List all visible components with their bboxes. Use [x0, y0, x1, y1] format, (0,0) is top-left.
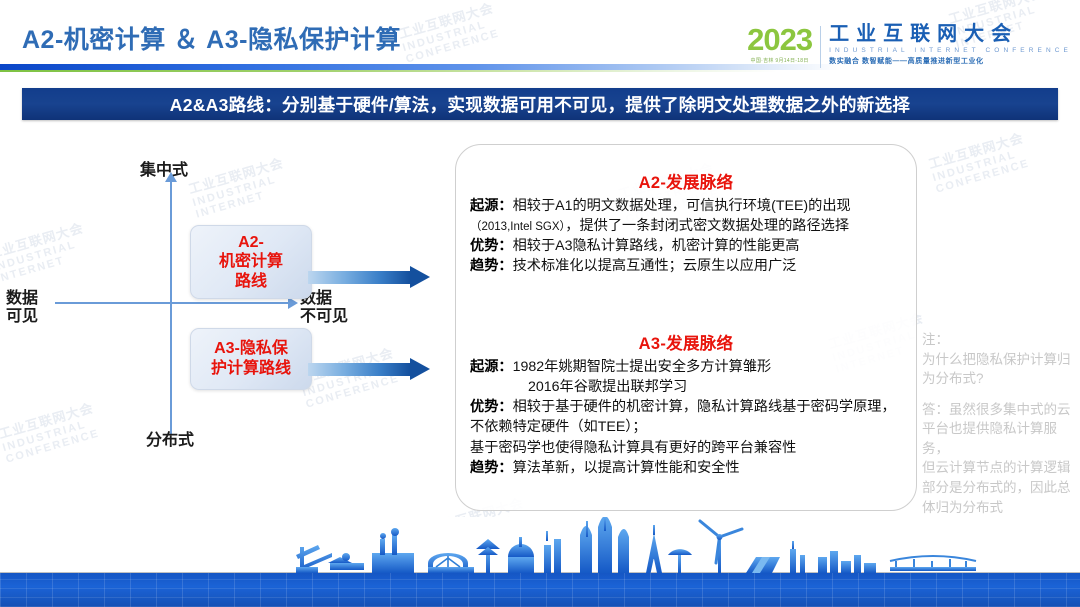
section-a3-row-0-label: 起源：	[470, 359, 513, 375]
arrow-a3-shaft	[308, 363, 410, 376]
route-box-a3[interactable]: A3-隐私保 护计算路线	[190, 328, 312, 390]
logo-name-cn: 工业互联网大会	[829, 24, 1072, 45]
section-a2-row-0-text2: ，提供了一条封闭式密文数据处理的路径选择	[565, 218, 849, 234]
route-a3-line2: 护计算路线	[211, 359, 291, 379]
route-a3-line1: A3-隐私保	[211, 339, 291, 359]
banner-headline: A2&A3路线：分别基于硬件/算法，实现数据可用不可见，提供了除明文处理数据之外…	[22, 88, 1058, 120]
arrow-a2-shaft	[308, 271, 410, 284]
logo-year: 2023 中国·吉林 9月14日-18日	[747, 24, 820, 64]
section-a3-body: 起源：1982年姚期智院士提出安全多方计算雏形 2016年谷歌提出联邦学习 优势…	[470, 357, 902, 478]
watermark: 工业互联网大会INDUSTRIALCONFERENCE	[926, 127, 1032, 195]
section-a3-row-2-text: 算法革新，以提高计算性能和安全性	[513, 460, 740, 476]
watermark: 工业互联网大会INDUSTRIALCONFERENCE	[396, 0, 502, 66]
section-a3-row-2-label: 趋势：	[470, 460, 513, 476]
section-a3-row-1-text: 相较于基于硬件的机密计算，隐私计算路线基于密码学原理，不依赖特定硬件（如TEE）…	[470, 399, 896, 435]
header-divider-green	[0, 70, 1080, 72]
arrow-a3-icon	[308, 358, 430, 380]
section-a3-row-0-text: 1982年姚期智院士提出安全多方计算雏形	[513, 359, 772, 375]
note-answer-line2: 但云计算节点的计算逻辑部分是分布式的，因此总体归为分布式	[922, 458, 1072, 517]
section-a2-row-2-label: 趋势：	[470, 258, 513, 274]
footer-band	[0, 573, 1080, 607]
section-a3-row-1: 优势：相较于基于硬件的机密计算，隐私计算路线基于密码学原理，不依赖特定硬件（如T…	[470, 397, 902, 437]
axis-label-left: 数据 可见	[6, 290, 38, 327]
logo-divider	[820, 26, 821, 68]
logo-name-en: INDUSTRIAL INTERNET CONFERENCE	[829, 47, 1072, 54]
axis-label-bottom: 分布式	[146, 432, 194, 450]
city-skyline-icon	[0, 517, 1080, 573]
section-a2-row-2: 趋势：技术标准化以提高互通性；云原生以应用广泛	[470, 256, 902, 276]
section-a3-row-1-text2: 基于密码学也使得隐私计算具有更好的跨平台兼容性	[470, 438, 902, 458]
section-a3-title: A3-发展脉络	[470, 330, 902, 354]
note-question: 为什么把隐私保护计算归为分布式?	[922, 350, 1072, 389]
content-card: A2-发展脉络 起源：相较于A1的明文数据处理，可信执行环境(TEE)的出现（2…	[455, 144, 917, 511]
section-a3-row-0-text2: 2016年谷歌提出联邦学习	[470, 377, 902, 397]
note-spacer	[922, 389, 1072, 400]
section-a2-row-0-text: 相较于A1的明文数据处理，可信执行环境(TEE)的出现	[513, 198, 851, 214]
section-a2-row-1-label: 优势：	[470, 238, 513, 254]
section-a2-body: 起源：相较于A1的明文数据处理，可信执行环境(TEE)的出现（2013,Inte…	[470, 196, 902, 277]
section-a2: A2-发展脉络 起源：相较于A1的明文数据处理，可信执行环境(TEE)的出现（2…	[470, 169, 902, 277]
logo-year-text: 2023	[747, 22, 812, 57]
footer-decoration	[0, 517, 1080, 607]
axis-label-top: 集中式	[140, 162, 188, 180]
axis-label-left-line1: 数据	[6, 290, 38, 308]
logo-text-block: 工业互联网大会 INDUSTRIAL INTERNET CONFERENCE 数…	[829, 24, 1072, 66]
section-a2-row-2-text: 技术标准化以提高互通性；云原生以应用广泛	[513, 258, 797, 274]
vertical-axis	[170, 180, 172, 435]
section-a2-row-1-text: 相较于A3隐私计算路线，机密计算的性能更高	[513, 238, 800, 254]
route-box-a2[interactable]: A2- 机密计算 路线	[190, 225, 312, 299]
page-title: A2-机密计算 ＆ A3-隐私保护计算	[22, 20, 401, 56]
route-a2-line3: 路线	[219, 272, 283, 292]
note-label: 注：	[922, 330, 1072, 350]
section-a2-row-0-small: （2013,Intel SGX）	[470, 221, 565, 233]
side-note: 注： 为什么把隐私保护计算归为分布式? 答：虽然很多集中式的云平台也提供隐私计算…	[922, 330, 1072, 517]
section-a2-row-1: 优势：相较于A3隐私计算路线，机密计算的性能更高	[470, 236, 902, 256]
section-a3-row-0: 起源：1982年姚期智院士提出安全多方计算雏形	[470, 357, 902, 377]
route-a2-line2: 机密计算	[219, 252, 283, 272]
arrow-a2-icon	[308, 266, 430, 288]
quadrant-diagram: 集中式 分布式 数据 可见 数据 不可见 A2- 机密计算 路线 A3-隐私保 …	[0, 150, 440, 480]
logo-year-subtitle: 中国·吉林 9月14日-18日	[747, 59, 812, 64]
section-a3-row-1-label: 优势：	[470, 399, 513, 415]
axis-label-right-line2: 不可见	[300, 308, 348, 326]
section-a3: A3-发展脉络 起源：1982年姚期智院士提出安全多方计算雏形 2016年谷歌提…	[470, 330, 902, 478]
section-a2-row-0-label: 起源：	[470, 198, 513, 214]
section-a3-row-2: 趋势：算法革新，以提高计算性能和安全性	[470, 458, 902, 478]
section-a2-row-0: 起源：相较于A1的明文数据处理，可信执行环境(TEE)的出现（2013,Inte…	[470, 196, 902, 236]
section-a2-title: A2-发展脉络	[470, 169, 902, 193]
arrow-a2-head	[410, 266, 430, 288]
note-answer-line1: 答：虽然很多集中式的云平台也提供隐私计算服务，	[922, 400, 1072, 459]
axis-label-left-line2: 可见	[6, 308, 38, 326]
route-a2-line1: A2-	[219, 233, 283, 253]
horizontal-axis	[55, 302, 290, 304]
conference-logo: 2023 中国·吉林 9月14日-18日 工业互联网大会 INDUSTRIAL …	[747, 24, 1072, 70]
logo-slogan: 数实融合 数智赋能——高质量推进新型工业化	[829, 56, 1072, 66]
arrow-a3-head	[410, 358, 430, 380]
